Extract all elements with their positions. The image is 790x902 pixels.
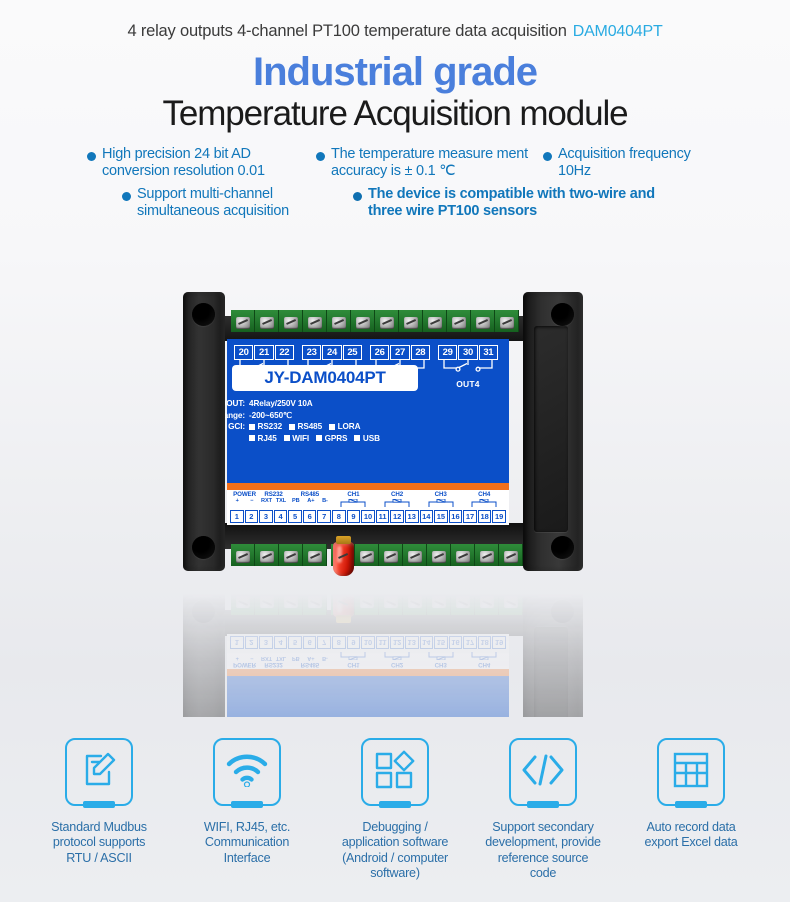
- relay-terminal-row: 293031: [438, 345, 498, 360]
- relay-terminal: 28: [411, 345, 430, 360]
- relay-terminal-row: 202122: [234, 345, 294, 360]
- pt100-sensor-symbol: [428, 499, 454, 508]
- terminal-screw: [379, 593, 403, 615]
- wifi-icon: [225, 753, 269, 792]
- terminal-screw: [255, 310, 279, 332]
- checkbox-icon: [249, 718, 255, 724]
- relay-terminal: 20: [234, 345, 253, 360]
- terminal-screw: [471, 310, 495, 332]
- terminal-strip-bottom-left: [231, 593, 327, 615]
- feature-card[interactable]: Standard Mudbus protocol supports RTU / …: [40, 738, 158, 881]
- bullet-dot-icon: [316, 152, 325, 161]
- spec-row-gci2: RJ45 WIFI GPRS USB: [197, 715, 455, 727]
- terminal-screw: [279, 310, 303, 332]
- spec-key-spacer: [197, 715, 249, 727]
- feature-card-label: Standard Mudbus protocol supports RTU / …: [40, 820, 158, 866]
- gci-option: WIFI: [284, 433, 309, 445]
- feature-icon-box: [657, 738, 725, 806]
- checkbox-icon: [316, 718, 322, 724]
- group-title: CH4: [462, 491, 506, 498]
- relay-terminal: 21: [254, 345, 273, 360]
- group-sublabels: RXTTXL: [259, 498, 288, 504]
- spec-row: DOOUT: 4Relay/250V 10A: [197, 398, 455, 410]
- bottom-terminal: 18: [478, 510, 492, 523]
- feature-card[interactable]: Debugging / application software (Androi…: [336, 738, 454, 881]
- relay-terminal: 30: [458, 345, 477, 360]
- group-sublabel: RXT: [261, 655, 272, 661]
- bottom-terminal: 10: [361, 636, 375, 649]
- mounting-hole-icon: [551, 600, 574, 623]
- gci-option: GPRS: [316, 433, 347, 445]
- terminal-screw: [231, 544, 255, 566]
- feature-item: High precision 24 bit AD conversion reso…: [87, 146, 312, 180]
- orange-stripe: [227, 483, 509, 490]
- gci-row-1: RS232 RS485 LORA: [249, 421, 455, 433]
- terminal-screw: [279, 593, 303, 615]
- page-header: 4 relay outputs 4-channel PT100 temperat…: [0, 0, 790, 134]
- bullet-dot-icon: [353, 192, 362, 201]
- device-reflection: 202122 OUT1 232425 OUT2 262728 OU: [183, 582, 583, 717]
- relay-terminal: 23: [302, 345, 321, 360]
- orange-stripe: [227, 669, 509, 676]
- feature-item: Support multi-channel simultaneous acqui…: [122, 186, 329, 220]
- terminal-screw: [303, 310, 327, 332]
- bottom-terminal-labels: POWER +− RS232 RXTTXL RS485 PBA+B- CH1 C…: [227, 634, 509, 669]
- gci-option-label: LORA: [338, 727, 361, 739]
- spec-row-gci2: RJ45 WIFI GPRS USB: [197, 433, 455, 445]
- relay-terminal: 29: [438, 345, 457, 360]
- bottom-group: RS485 PBA+B-: [288, 655, 332, 668]
- sensor-symbol-wrap: [462, 499, 506, 508]
- group-sublabels: RXTTXL: [259, 655, 288, 661]
- terminal-screw: [399, 310, 423, 332]
- gci-option: RJ45: [249, 433, 277, 445]
- feature-label: The device is compatible with two-wire a…: [368, 186, 668, 220]
- mounting-hole-icon: [192, 536, 215, 559]
- bottom-terminal: 10: [361, 510, 375, 523]
- feature-label: Acquisition frequency 10Hz: [558, 146, 703, 180]
- mounting-hole-icon: [192, 600, 215, 623]
- pt100-sensor-symbol: [384, 499, 410, 508]
- terminal-screw: [231, 310, 255, 332]
- terminal-screw: [255, 593, 279, 615]
- relay-symbol: [438, 360, 498, 380]
- group-sublabel: −: [250, 498, 253, 504]
- relay-terminal: 22: [275, 345, 294, 360]
- bottom-terminal: 1: [230, 510, 244, 523]
- gci-row-1: RS232 RS485 LORA: [249, 727, 455, 739]
- bottom-terminal-labels: POWER +− RS232 RXTTXL RS485 PBA+B- CH1 C…: [227, 490, 509, 525]
- spec-row-gci: GCI: RS232 RS485 LORA: [197, 421, 455, 433]
- bottom-terminal: 15: [434, 636, 448, 649]
- group-sublabel: B-: [322, 498, 328, 504]
- feature-icon-box: [361, 738, 429, 806]
- gci-option-label: RS485: [298, 421, 323, 433]
- spec-key: GCI:: [197, 727, 249, 739]
- bottom-group: CH1: [332, 491, 376, 508]
- gci-option: USB: [354, 433, 380, 445]
- relay-terminal: 31: [479, 345, 498, 360]
- group-title: RS485: [288, 661, 332, 668]
- group-sublabels: +−: [230, 498, 259, 504]
- feature-icon-box: [213, 738, 281, 806]
- bottom-terminal: 15: [434, 510, 448, 523]
- gci-option: GPRS: [316, 715, 347, 727]
- sensor-symbol-wrap: [332, 651, 376, 660]
- feature-icon-box: [509, 738, 577, 806]
- gci-option: RS485: [289, 421, 322, 433]
- feature-row-1: High precision 24 bit AD conversion reso…: [28, 146, 762, 180]
- terminal-screw: [327, 310, 351, 332]
- feature-card-label: Debugging / application software (Androi…: [336, 820, 454, 881]
- group-sublabels: PBA+B-: [288, 498, 332, 504]
- gci-option: RS232: [249, 727, 282, 739]
- bottom-terminal: 12: [390, 510, 404, 523]
- group-sublabel: RXT: [261, 498, 272, 504]
- bottom-terminal: 7: [317, 510, 331, 523]
- device-photo-stage: 202122 OUT1 232425 OUT2 262728 OU: [0, 282, 790, 702]
- pt100-sensor-symbol: [428, 651, 454, 660]
- feature-label: Support multi-channel simultaneous acqui…: [137, 186, 329, 220]
- bottom-terminal: 11: [376, 636, 390, 649]
- terminal-screw: [351, 310, 375, 332]
- bottom-terminal: 18: [478, 636, 492, 649]
- terminal-screw: [499, 544, 523, 566]
- page-headline: Industrial grade: [0, 51, 790, 93]
- gci-option-label: LORA: [338, 421, 361, 433]
- bottom-terminal: 2: [245, 636, 259, 649]
- feature-icon-box: [65, 738, 133, 806]
- terminal-screw: [451, 593, 475, 615]
- bottom-terminal: 5: [288, 510, 302, 523]
- bottom-group-labels: POWER +− RS232 RXTTXL RS485 PBA+B- CH1 C…: [230, 491, 506, 509]
- chassis-bottom-bar: [213, 610, 548, 636]
- bottom-terminal: 13: [405, 636, 419, 649]
- bottom-terminal: 13: [405, 510, 419, 523]
- checkbox-icon: [354, 435, 360, 441]
- pt100-sensor-symbol: [384, 651, 410, 660]
- sensor-symbol-wrap: [462, 651, 506, 660]
- gci-row-2: RJ45 WIFI GPRS USB: [249, 715, 455, 727]
- bottom-terminal: 4: [274, 636, 288, 649]
- bottom-terminal: 4: [274, 510, 288, 523]
- bottom-group: RS485 PBA+B-: [288, 491, 332, 504]
- kicker-line: 4 relay outputs 4-channel PT100 temperat…: [0, 22, 790, 41]
- bullet-dot-icon: [543, 152, 552, 161]
- terminal-screw: [303, 544, 327, 566]
- group-sublabel: −: [250, 655, 253, 661]
- checkbox-icon: [284, 435, 290, 441]
- pt100-sensor-symbol: [340, 499, 366, 508]
- group-sublabel: A+: [307, 498, 314, 504]
- feature-item: The temperature measure ment accuracy is…: [316, 146, 539, 180]
- pt100-sensor-symbol: [471, 499, 497, 508]
- relay-terminal: 27: [390, 345, 409, 360]
- group-title: CH3: [419, 491, 463, 498]
- gci-option-label: RS232: [258, 421, 283, 433]
- spec-row-gci: GCI: RS232 RS485 LORA: [197, 727, 455, 739]
- bottom-terminal: 3: [259, 636, 273, 649]
- group-title: CH1: [332, 491, 376, 498]
- terminal-screw: [451, 544, 475, 566]
- bottom-terminal: 14: [420, 510, 434, 523]
- group-sublabels: PBA+B-: [288, 655, 332, 661]
- gci-option: LORA: [329, 421, 360, 433]
- bottom-terminal: 16: [449, 510, 463, 523]
- bottom-group: CH3: [419, 651, 463, 668]
- feature-label: High precision 24 bit AD conversion reso…: [102, 146, 312, 180]
- feature-row-2: Support multi-channel simultaneous acqui…: [28, 186, 762, 220]
- bottom-terminal: 2: [245, 510, 259, 523]
- app-blocks-icon: [374, 750, 416, 795]
- gci-row-2: RJ45 WIFI GPRS USB: [249, 433, 455, 445]
- relay-contact-symbol: [438, 360, 498, 380]
- gci-option-label: RJ45: [258, 433, 277, 445]
- bottom-group: CH3: [419, 491, 463, 508]
- feature-card-label: Auto record data export Excel data: [632, 820, 750, 851]
- pt100-sensor-symbol: [340, 651, 366, 660]
- terminal-screw: [375, 310, 399, 332]
- relay-output-group: 293031 OUT4: [438, 345, 498, 389]
- feature-item: Acquisition frequency 10Hz: [543, 146, 703, 180]
- bottom-group: CH4: [462, 651, 506, 668]
- gci-option: RS485: [289, 727, 322, 739]
- gci-option-label: GPRS: [325, 715, 348, 727]
- feature-card-label: WIFI, RJ45, etc. Communication Interface: [188, 820, 306, 866]
- bottom-group: CH1: [332, 651, 376, 668]
- group-sublabel: +: [236, 498, 239, 504]
- group-title: CH2: [375, 491, 419, 498]
- checkbox-icon: [329, 729, 335, 735]
- bottom-group-labels: POWER +− RS232 RXTTXL RS485 PBA+B- CH1 C…: [230, 650, 506, 668]
- model-badge-label: JY-DAM0404PT: [264, 368, 385, 388]
- terminal-strip-bottom-right: [331, 544, 523, 566]
- terminal-screw: [475, 593, 499, 615]
- terminal-screw: [231, 593, 255, 615]
- terminal-screw: [427, 544, 451, 566]
- terminal-screw: [447, 310, 471, 332]
- feature-card[interactable]: Support secondary development, provide r…: [484, 738, 602, 881]
- bottom-terminal: 19: [492, 636, 506, 649]
- terminal-strip-top: [231, 310, 519, 332]
- sensor-symbol-wrap: [332, 499, 376, 508]
- spec-value: 4Relay/250V 10A: [249, 398, 455, 410]
- group-title: RS232: [259, 491, 288, 498]
- bottom-terminal: 19: [492, 510, 506, 523]
- feature-card[interactable]: WIFI, RJ45, etc. Communication Interface: [188, 738, 306, 881]
- group-sublabel: TXL: [276, 498, 286, 504]
- group-title: CH2: [375, 661, 419, 668]
- group-sublabel: TXL: [276, 655, 286, 661]
- gci-option: RS232: [249, 421, 282, 433]
- gci-option-label: RJ45: [258, 715, 277, 727]
- bottom-terminal: 6: [303, 510, 317, 523]
- group-title: RS485: [288, 491, 332, 498]
- gci-option: RJ45: [249, 715, 277, 727]
- gci-option: USB: [354, 715, 380, 727]
- pt100-sensor-symbol: [471, 651, 497, 660]
- feature-bullets: High precision 24 bit AD conversion reso…: [0, 146, 790, 220]
- relay-terminal-row: 262728: [370, 345, 430, 360]
- bottom-terminal: 17: [463, 510, 477, 523]
- bottom-group: CH2: [375, 651, 419, 668]
- checkbox-icon: [289, 729, 295, 735]
- group-title: RS232: [259, 661, 288, 668]
- checkbox-icon: [289, 424, 295, 430]
- bottom-terminal: 9: [347, 510, 361, 523]
- checkbox-icon: [249, 424, 255, 430]
- bottom-group: CH2: [375, 491, 419, 508]
- terminal-screw: [495, 310, 519, 332]
- terminal-screw: [403, 544, 427, 566]
- spec-value: -200~650℃: [249, 410, 455, 422]
- bottom-group: POWER +−: [230, 491, 259, 504]
- checkbox-icon: [329, 424, 335, 430]
- sensor-symbol-wrap: [419, 651, 463, 660]
- bottom-terminal: 7: [317, 636, 331, 649]
- bottom-group: POWER +−: [230, 655, 259, 668]
- kicker-text: 4 relay outputs 4-channel PT100 temperat…: [127, 22, 566, 40]
- mounting-hole-icon: [192, 303, 215, 326]
- group-sublabel: PB: [292, 498, 300, 504]
- checkbox-icon: [249, 435, 255, 441]
- bottom-terminal: 14: [420, 636, 434, 649]
- model-tag: DAM0404PT: [573, 23, 663, 40]
- housing-rail-right: [523, 292, 583, 571]
- bottom-terminal: 1: [230, 636, 244, 649]
- bottom-terminal: 11: [376, 510, 390, 523]
- sensor-symbol-wrap: [375, 651, 419, 660]
- group-title: CH4: [462, 661, 506, 668]
- bottom-group: RS232 RXTTXL: [259, 655, 288, 668]
- bottom-terminal-numbers: 12345678910111213141516171819: [230, 636, 506, 649]
- checkbox-icon: [284, 718, 290, 724]
- gci-option-label: USB: [363, 433, 380, 445]
- terminal-screw: [499, 593, 523, 615]
- gci-option-label: WIFI: [292, 433, 309, 445]
- gci-option-label: RS485: [298, 727, 323, 739]
- bottom-group: RS232 RXTTXL: [259, 491, 288, 504]
- terminal-screw: [355, 593, 379, 615]
- bottom-terminal: 6: [303, 636, 317, 649]
- terminal-screw: [255, 544, 279, 566]
- checkbox-icon: [316, 435, 322, 441]
- gci-option: WIFI: [284, 715, 309, 727]
- spec-row: Range: -200~650℃: [197, 410, 455, 422]
- gci-option-label: RS232: [258, 727, 283, 739]
- bottom-terminal: 3: [259, 510, 273, 523]
- terminal-screw: [423, 310, 447, 332]
- terminal-screw: [331, 593, 355, 615]
- terminal-strip-bottom-right: [331, 593, 523, 615]
- spreadsheet-grid-icon: [671, 751, 711, 794]
- group-title: POWER: [230, 661, 259, 668]
- bullet-dot-icon: [122, 192, 131, 201]
- bottom-terminal: 16: [449, 636, 463, 649]
- model-badge: JY-DAM0404PT: [232, 365, 418, 391]
- checkbox-icon: [354, 718, 360, 724]
- bottom-white-band: [227, 634, 509, 669]
- sensor-symbol-wrap: [419, 499, 463, 508]
- code-brackets-icon: [521, 754, 565, 791]
- relay-output-label: OUT4: [438, 379, 498, 389]
- group-title: POWER: [230, 491, 259, 498]
- bullet-dot-icon: [87, 152, 96, 161]
- feature-card[interactable]: Auto record data export Excel data: [632, 738, 750, 881]
- gci-option-label: GPRS: [325, 433, 348, 445]
- group-sublabel: A+: [307, 655, 314, 661]
- terminal-screw: [403, 593, 427, 615]
- relay-terminal: 25: [343, 345, 362, 360]
- page-subheadline: Temperature Acquisition module: [0, 95, 790, 134]
- housing-recess-panel: [534, 326, 568, 532]
- terminal-screw: [427, 593, 451, 615]
- bottom-terminal-numbers: 12345678910111213141516171819: [230, 510, 506, 523]
- terminal-screw: [355, 544, 379, 566]
- feature-card-label: Support secondary development, provide r…: [484, 820, 602, 881]
- checkbox-icon: [249, 729, 255, 735]
- bottom-terminal: 9: [347, 636, 361, 649]
- housing-rail-left: [183, 292, 225, 571]
- sensor-symbol-wrap: [375, 499, 419, 508]
- feature-label: The temperature measure ment accuracy is…: [331, 146, 539, 180]
- group-sublabel: +: [236, 655, 239, 661]
- bottom-group: CH4: [462, 491, 506, 508]
- terminal-screw: [475, 544, 499, 566]
- mounting-hole-icon: [551, 536, 574, 559]
- group-sublabels: +−: [230, 655, 259, 661]
- mounting-hole-icon: [551, 303, 574, 326]
- terminal-strip-bottom-left: [231, 544, 327, 566]
- relay-terminal-row: 232425: [302, 345, 362, 360]
- relay-terminal: 24: [322, 345, 341, 360]
- terminal-screw: [279, 544, 303, 566]
- group-sublabel: B-: [322, 655, 328, 661]
- bottom-terminal: 8: [332, 510, 346, 523]
- bottom-terminal: 17: [463, 636, 477, 649]
- red-led-indicator: [333, 542, 354, 576]
- gci-option-label: WIFI: [292, 715, 309, 727]
- group-title: CH1: [332, 661, 376, 668]
- gci-option-label: USB: [363, 715, 380, 727]
- bottom-terminal: 5: [288, 636, 302, 649]
- bottom-terminal: 8: [332, 636, 346, 649]
- relay-terminal: 26: [370, 345, 389, 360]
- feature-icon-row: Standard Mudbus protocol supports RTU / …: [0, 738, 790, 881]
- group-sublabel: PB: [292, 655, 300, 661]
- terminal-screw: [379, 544, 403, 566]
- document-edit-icon: [79, 750, 119, 795]
- group-title: CH3: [419, 661, 463, 668]
- red-led-indicator: [333, 583, 354, 617]
- device-module: 202122 OUT1 232425 OUT2 262728 OU: [183, 292, 583, 577]
- bottom-terminal: 12: [390, 636, 404, 649]
- terminal-screw: [303, 593, 327, 615]
- device-spec-block: DOOUT: 4Relay/250V 10A Range: -200~650℃ …: [197, 398, 455, 444]
- gci-option: LORA: [329, 727, 360, 739]
- feature-item: The device is compatible with two-wire a…: [353, 186, 668, 220]
